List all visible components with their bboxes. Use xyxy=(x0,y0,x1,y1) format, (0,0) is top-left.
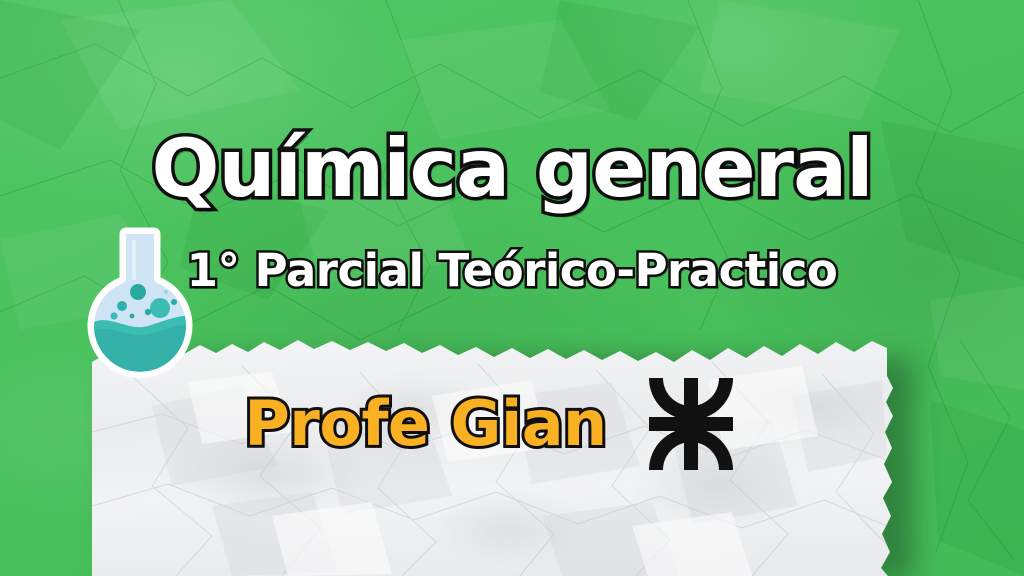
page-title: Química general xyxy=(0,129,1024,209)
slide-canvas: Química general 1° Parcial Teórico-Pract… xyxy=(0,0,1024,576)
utn-emblem xyxy=(641,378,741,470)
chemistry-flask-icon xyxy=(74,216,206,388)
author-name: Profe Gian xyxy=(244,393,606,455)
author-row: Profe Gian xyxy=(92,376,893,472)
page-subtitle: 1° Parcial Teórico-Practico xyxy=(0,248,1024,293)
